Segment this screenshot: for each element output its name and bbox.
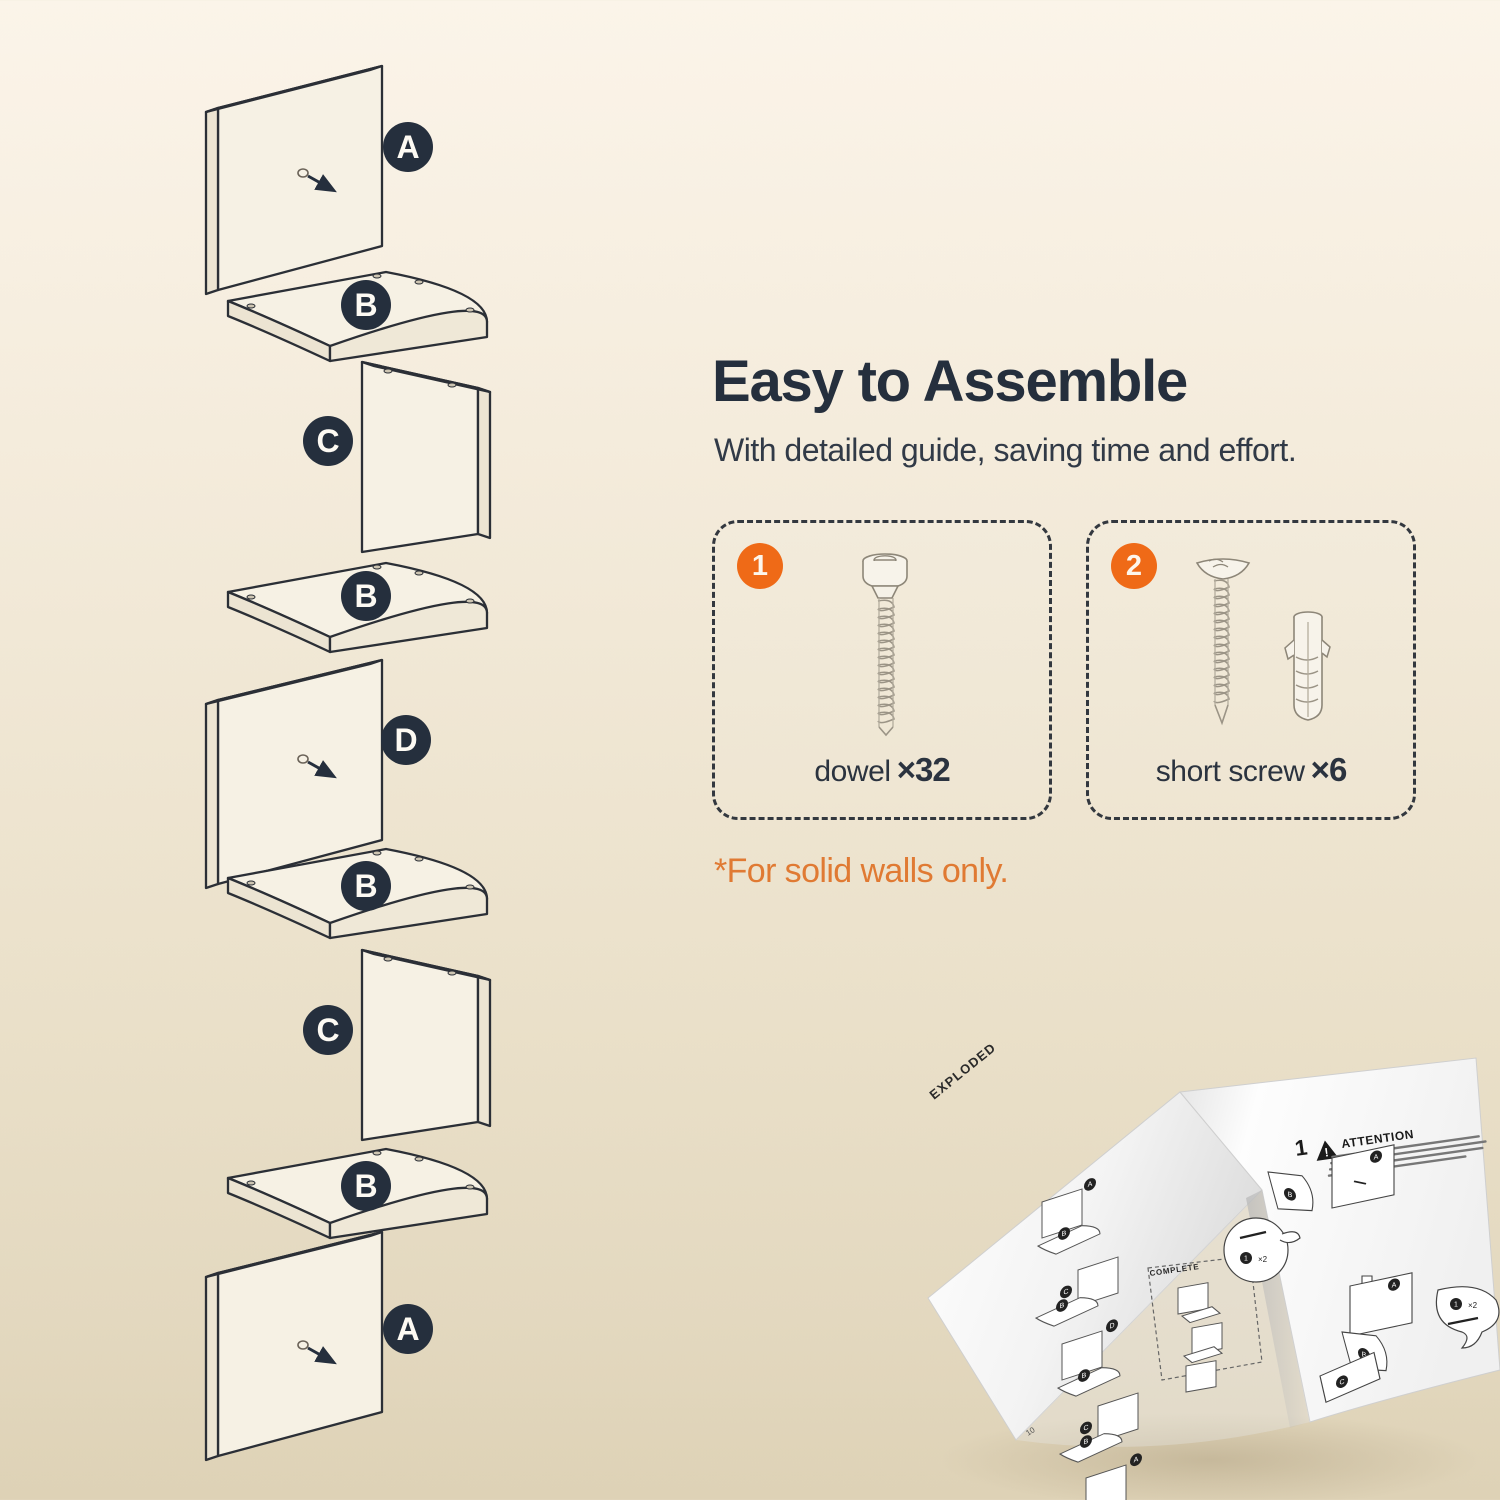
part-label-A-bottom: A <box>383 1304 433 1354</box>
svg-text:B: B <box>1288 1190 1293 1199</box>
svg-text:B: B <box>354 1168 377 1204</box>
svg-text:B: B <box>1060 1301 1065 1310</box>
parts-box-short-screw: 2 <box>1086 520 1416 820</box>
part-name-short-screw: short screw <box>1156 755 1305 788</box>
exploded-part-C-1 <box>362 362 490 552</box>
product-infographic: A B C <box>0 0 1500 1500</box>
svg-text:C: C <box>1339 1378 1344 1387</box>
svg-text:C: C <box>1083 1423 1088 1432</box>
part-label-B-3: B <box>341 861 391 911</box>
instruction-booklet: EXPLODED A B C B D <box>910 1040 1500 1500</box>
svg-text:C: C <box>1063 1287 1068 1296</box>
svg-text:B: B <box>1062 1229 1067 1238</box>
page-title: Easy to Assemble <box>712 352 1452 413</box>
part-label-C-1: C <box>303 416 353 466</box>
exploded-part-A-bottom <box>206 1232 382 1460</box>
part-label-D: D <box>381 715 431 765</box>
parts-caption-short-screw: short screw×6 <box>1089 751 1413 789</box>
svg-text:A: A <box>1134 1455 1139 1464</box>
page-subtitle: With detailed guide, saving time and eff… <box>714 432 1474 469</box>
parts-caption-dowel: dowel×32 <box>715 751 1049 789</box>
svg-text:D: D <box>394 722 417 758</box>
svg-text:A: A <box>1392 1282 1397 1290</box>
part-qty-dowel: ×32 <box>897 751 950 788</box>
svg-text:EXPLODED: EXPLODED <box>926 1040 998 1102</box>
svg-text:1: 1 <box>1244 1256 1248 1263</box>
svg-text:B: B <box>1082 1371 1087 1380</box>
svg-text:B: B <box>354 868 377 904</box>
svg-text:C: C <box>316 1012 339 1048</box>
part-name-dowel: dowel <box>814 755 890 788</box>
svg-text:1: 1 <box>1454 1302 1458 1309</box>
part-qty-short-screw: ×6 <box>1311 751 1347 788</box>
exploded-diagram: A B C <box>0 0 560 1500</box>
svg-text:B: B <box>354 578 377 614</box>
part-label-B-1: B <box>341 280 391 330</box>
parts-box-dowel: 1 <box>712 520 1052 820</box>
part-label-A-top: A <box>383 122 433 172</box>
svg-text:D: D <box>1109 1321 1114 1330</box>
svg-text:C: C <box>316 423 339 459</box>
dowel-screw-icon <box>715 545 1055 760</box>
footnote-solid-walls: *For solid walls only. <box>714 852 1008 891</box>
svg-text:B: B <box>1084 1437 1089 1446</box>
svg-text:A: A <box>1374 1154 1379 1162</box>
svg-text:×2: ×2 <box>1258 1255 1268 1264</box>
svg-text:A: A <box>396 129 419 165</box>
svg-text:×2: ×2 <box>1468 1301 1478 1310</box>
screw-and-wall-anchor-icon <box>1089 545 1419 760</box>
part-label-B-4: B <box>341 1161 391 1211</box>
booklet-left-heading: EXPLODED <box>926 1040 998 1102</box>
part-label-C-2: C <box>303 1005 353 1055</box>
exploded-part-C-2 <box>362 950 490 1140</box>
svg-text:A: A <box>396 1311 419 1347</box>
svg-text:B: B <box>354 287 377 323</box>
exploded-part-A-top <box>206 66 382 294</box>
svg-text:A: A <box>1088 1180 1093 1189</box>
part-label-B-2: B <box>341 571 391 621</box>
